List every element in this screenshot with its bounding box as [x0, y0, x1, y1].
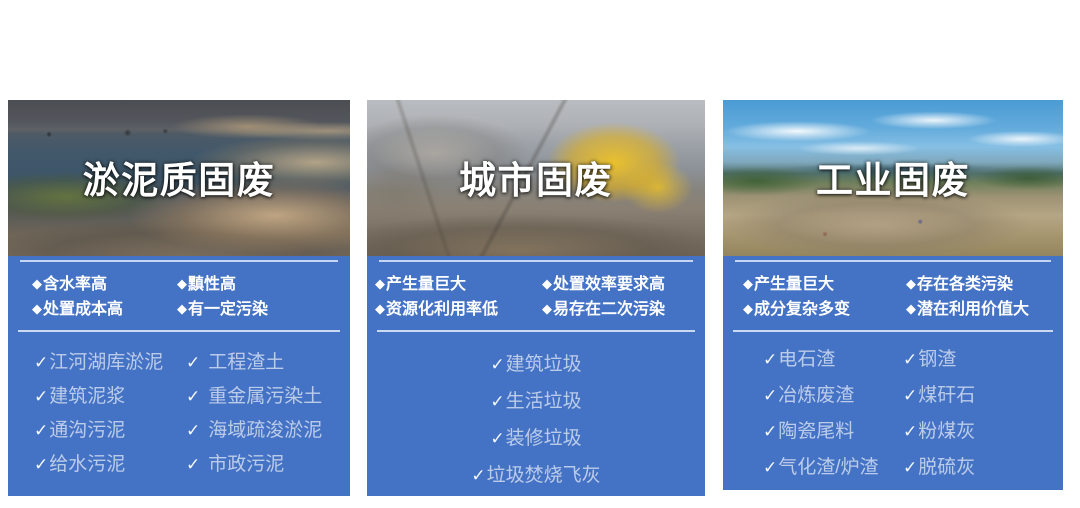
- feature-label: 资源化利用率低: [386, 301, 498, 318]
- list-label: 重金属污染土: [208, 380, 322, 414]
- list-item: ✓装修垃圾: [367, 420, 705, 457]
- feature-cell: ◆资源化利用率低: [375, 297, 542, 322]
- feature-cell: ◆黰性高: [177, 272, 236, 297]
- check-icon: ✓: [34, 380, 48, 414]
- feature-label: 潜在利用价值大: [917, 301, 1029, 318]
- feature-cell: ◆有一定污染: [177, 297, 268, 322]
- waste-type-list: ✓电石渣 ✓钢渣 ✓冶炼废渣 ✓煤矸石 ✓陶瓷尾料 ✓粉煤灰 ✓气化渣/炉渣 ✓…: [723, 332, 1063, 486]
- card-title: 淤泥质固废: [8, 150, 350, 204]
- list-cell: ✓电石渣: [763, 342, 903, 378]
- diamond-bullet-icon: ◆: [743, 301, 753, 316]
- feature-cell: ◆易存在二次污染: [542, 297, 665, 322]
- feature-list: ◆含水率高 ◆黰性高 ◆处置成本高 ◆有一定污染: [8, 260, 350, 322]
- check-icon: ✓: [490, 383, 504, 420]
- check-icon: ✓: [903, 378, 917, 414]
- diamond-bullet-icon: ◆: [32, 301, 42, 316]
- list-cell: ✓工程渣土: [186, 346, 284, 380]
- list-label: 钢渣: [918, 342, 956, 378]
- list-item: ✓江河湖库淤泥 ✓工程渣土: [34, 346, 350, 380]
- list-label: 冶炼废渣: [778, 378, 854, 414]
- list-cell: ✓海域疏浚淤泥: [186, 414, 322, 448]
- diamond-bullet-icon: ◆: [375, 276, 385, 291]
- diamond-bullet-icon: ◆: [906, 301, 916, 316]
- card-urban-solid-waste[interactable]: 城市固废 ◆产生量巨大 ◆处置效率要求高 ◆资源化利用率低 ◆易存在二次污染 ✓…: [367, 100, 705, 496]
- feature-row: ◆产生量巨大 ◆存在各类污染: [723, 272, 1063, 297]
- feature-label: 含水率高: [43, 276, 107, 293]
- list-item: ✓生活垃圾: [367, 383, 705, 420]
- list-item: ✓气化渣/炉渣 ✓脱硫灰: [763, 450, 1063, 486]
- check-icon: ✓: [186, 380, 200, 414]
- check-icon: ✓: [490, 420, 504, 457]
- card-sludge-solid-waste[interactable]: 淤泥质固废 ◆含水率高 ◆黰性高 ◆处置成本高 ◆有一定污染 ✓江河湖库淤泥 ✓…: [8, 100, 350, 496]
- diamond-bullet-icon: ◆: [542, 276, 552, 291]
- diamond-bullet-icon: ◆: [542, 301, 552, 316]
- check-icon: ✓: [34, 414, 48, 448]
- list-label: 生活垃圾: [506, 383, 582, 420]
- list-label: 给水污泥: [49, 448, 125, 482]
- list-cell: ✓装修垃圾: [490, 420, 581, 457]
- feature-row: ◆成分复杂多变 ◆潜在利用价值大: [723, 297, 1063, 322]
- waste-type-list: ✓江河湖库淤泥 ✓工程渣土 ✓建筑泥浆 ✓重金属污染土 ✓通沟污泥 ✓海域疏浚淤…: [8, 332, 350, 482]
- panel-top-divider: [735, 260, 1051, 262]
- feature-label: 存在各类污染: [917, 276, 1013, 293]
- list-label: 建筑垃圾: [506, 346, 582, 383]
- list-cell: ✓垃圾焚烧飞灰: [471, 457, 600, 494]
- card-info-panel: ◆产生量巨大 ◆处置效率要求高 ◆资源化利用率低 ◆易存在二次污染 ✓建筑垃圾 …: [367, 256, 705, 496]
- list-cell: ✓建筑垃圾: [490, 346, 581, 383]
- list-cell: ✓陶瓷尾料: [763, 414, 903, 450]
- feature-cell: ◆存在各类污染: [906, 272, 1013, 297]
- feature-row: ◆资源化利用率低 ◆易存在二次污染: [367, 297, 705, 322]
- feature-cell: ◆处置成本高: [32, 297, 177, 322]
- feature-label: 处置效率要求高: [553, 276, 665, 293]
- diamond-bullet-icon: ◆: [177, 276, 187, 291]
- list-cell: ✓气化渣/炉渣: [763, 450, 903, 486]
- list-label: 电石渣: [778, 342, 835, 378]
- feature-label: 产生量巨大: [754, 276, 834, 293]
- diamond-bullet-icon: ◆: [375, 301, 385, 316]
- feature-cell: ◆含水率高: [32, 272, 177, 297]
- list-cell: ✓市政污泥: [186, 448, 284, 482]
- list-cell: ✓脱硫灰: [903, 450, 975, 486]
- list-cell: ✓冶炼废渣: [763, 378, 903, 414]
- list-cell: ✓给水污泥: [34, 448, 186, 482]
- list-cell: ✓重金属污染土: [186, 380, 322, 414]
- feature-label: 黰性高: [188, 276, 236, 293]
- diamond-bullet-icon: ◆: [177, 301, 187, 316]
- diamond-bullet-icon: ◆: [906, 276, 916, 291]
- list-label: 煤矸石: [918, 378, 975, 414]
- list-label: 陶瓷尾料: [778, 414, 854, 450]
- check-icon: ✓: [186, 414, 200, 448]
- check-icon: ✓: [763, 450, 777, 486]
- card-banner: 淤泥质固废: [8, 100, 350, 256]
- check-icon: ✓: [34, 448, 48, 482]
- check-icon: ✓: [471, 457, 485, 494]
- diamond-bullet-icon: ◆: [32, 276, 42, 291]
- check-icon: ✓: [34, 346, 48, 380]
- feature-label: 易存在二次污染: [553, 301, 665, 318]
- panel-top-divider: [379, 260, 693, 262]
- list-label: 粉煤灰: [918, 414, 975, 450]
- list-label: 海域疏浚淤泥: [208, 414, 322, 448]
- list-cell: ✓建筑泥浆: [34, 380, 186, 414]
- list-cell: ✓江河湖库淤泥: [34, 346, 186, 380]
- check-icon: ✓: [763, 378, 777, 414]
- feature-label: 产生量巨大: [386, 276, 466, 293]
- check-icon: ✓: [763, 342, 777, 378]
- feature-row: ◆处置成本高 ◆有一定污染: [8, 297, 350, 322]
- list-item: ✓给水污泥 ✓市政污泥: [34, 448, 350, 482]
- feature-cell: ◆产生量巨大: [743, 272, 906, 297]
- list-cell: ✓煤矸石: [903, 378, 975, 414]
- feature-label: 处置成本高: [43, 301, 123, 318]
- diamond-bullet-icon: ◆: [743, 276, 753, 291]
- list-label: 建筑泥浆: [49, 380, 125, 414]
- check-icon: ✓: [903, 450, 917, 486]
- list-label: 脱硫灰: [918, 450, 975, 486]
- waste-type-list: ✓建筑垃圾 ✓生活垃圾 ✓装修垃圾 ✓垃圾焚烧飞灰: [367, 332, 705, 494]
- feature-cell: ◆潜在利用价值大: [906, 297, 1029, 322]
- check-icon: ✓: [490, 346, 504, 383]
- list-cell: ✓通沟污泥: [34, 414, 186, 448]
- card-banner: 城市固废: [367, 100, 705, 256]
- list-item: ✓陶瓷尾料 ✓粉煤灰: [763, 414, 1063, 450]
- slide-canvas: 淤泥质固废 ◆含水率高 ◆黰性高 ◆处置成本高 ◆有一定污染 ✓江河湖库淤泥 ✓…: [0, 0, 1080, 508]
- check-icon: ✓: [903, 342, 917, 378]
- feature-cell: ◆产生量巨大: [375, 272, 542, 297]
- feature-row: ◆含水率高 ◆黰性高: [8, 272, 350, 297]
- list-label: 垃圾焚烧飞灰: [487, 457, 601, 494]
- check-icon: ✓: [763, 414, 777, 450]
- list-label: 工程渣土: [208, 346, 284, 380]
- feature-list: ◆产生量巨大 ◆处置效率要求高 ◆资源化利用率低 ◆易存在二次污染: [367, 260, 705, 322]
- list-label: 气化渣/炉渣: [778, 450, 878, 486]
- list-item: ✓垃圾焚烧飞灰: [367, 457, 705, 494]
- list-item: ✓建筑垃圾: [367, 346, 705, 383]
- list-item: ✓电石渣 ✓钢渣: [763, 342, 1063, 378]
- card-title: 城市固废: [367, 150, 705, 204]
- check-icon: ✓: [186, 448, 200, 482]
- card-banner: 工业固废: [723, 100, 1063, 256]
- card-industrial-solid-waste[interactable]: 工业固废 ◆产生量巨大 ◆存在各类污染 ◆成分复杂多变 ◆潜在利用价值大 ✓电石…: [723, 100, 1063, 490]
- feature-list: ◆产生量巨大 ◆存在各类污染 ◆成分复杂多变 ◆潜在利用价值大: [723, 260, 1063, 322]
- list-item: ✓通沟污泥 ✓海域疏浚淤泥: [34, 414, 350, 448]
- list-item: ✓建筑泥浆 ✓重金属污染土: [34, 380, 350, 414]
- list-item: ✓冶炼废渣 ✓煤矸石: [763, 378, 1063, 414]
- panel-top-divider: [20, 260, 338, 262]
- check-icon: ✓: [903, 414, 917, 450]
- list-label: 江河湖库淤泥: [49, 346, 163, 380]
- card-title: 工业固废: [723, 150, 1063, 204]
- card-info-panel: ◆产生量巨大 ◆存在各类污染 ◆成分复杂多变 ◆潜在利用价值大 ✓电石渣 ✓钢渣…: [723, 256, 1063, 490]
- feature-cell: ◆处置效率要求高: [542, 272, 665, 297]
- feature-label: 有一定污染: [188, 301, 268, 318]
- feature-row: ◆产生量巨大 ◆处置效率要求高: [367, 272, 705, 297]
- list-cell: ✓生活垃圾: [490, 383, 581, 420]
- list-label: 通沟污泥: [49, 414, 125, 448]
- list-label: 装修垃圾: [506, 420, 582, 457]
- list-label: 市政污泥: [208, 448, 284, 482]
- card-info-panel: ◆含水率高 ◆黰性高 ◆处置成本高 ◆有一定污染 ✓江河湖库淤泥 ✓工程渣土 ✓…: [8, 256, 350, 496]
- check-icon: ✓: [186, 346, 200, 380]
- feature-cell: ◆成分复杂多变: [743, 297, 906, 322]
- list-cell: ✓粉煤灰: [903, 414, 975, 450]
- feature-label: 成分复杂多变: [754, 301, 850, 318]
- list-cell: ✓钢渣: [903, 342, 956, 378]
